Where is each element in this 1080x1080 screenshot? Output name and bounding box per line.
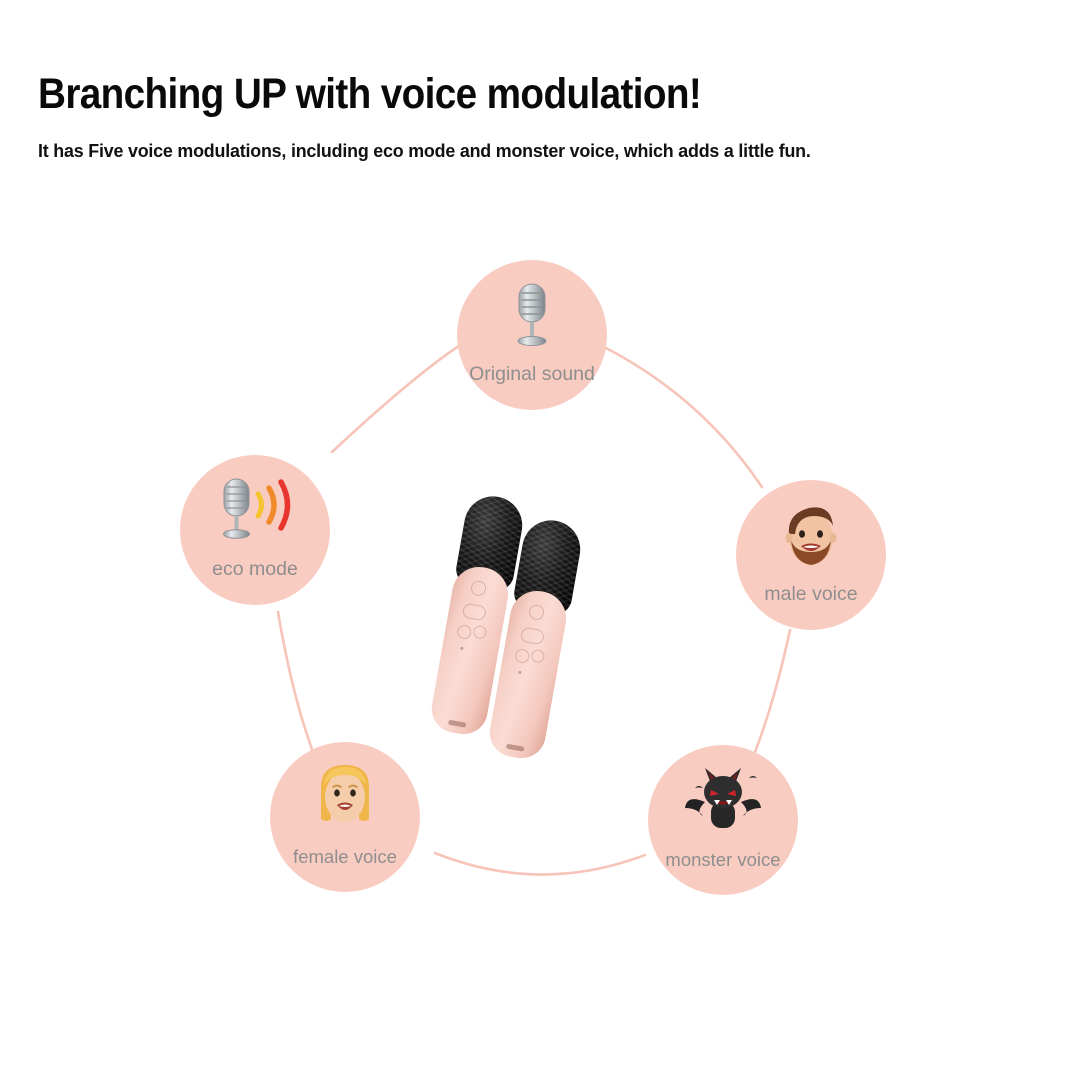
- karaoke-microphone-pair: [440, 470, 625, 720]
- mic-bottom-port: [506, 744, 525, 752]
- voice-modulation-infographic: Branching UP with voice modulation! It h…: [0, 0, 1080, 1080]
- node-original-sound[interactable]: Original sound: [457, 260, 607, 410]
- blonde-woman-icon: [270, 758, 420, 836]
- mic-button-mode: [462, 603, 487, 622]
- node-label: monster voice: [665, 851, 780, 896]
- bearded-man-icon: [736, 496, 886, 574]
- mic-button-volume: [456, 624, 472, 640]
- mic-button-effect: [472, 625, 487, 640]
- arc-monster-to-female: [435, 853, 645, 875]
- node-label: eco mode: [212, 560, 298, 606]
- mic-bottom-port: [448, 720, 467, 728]
- voice-modulation-diagram: Original sound male voice: [0, 0, 1080, 1080]
- mic-button-mode: [520, 627, 545, 646]
- arc-original-to-male: [600, 345, 762, 487]
- node-label: female voice: [293, 848, 397, 893]
- node-eco-mode[interactable]: eco mode: [180, 455, 330, 605]
- mic-button-effect: [530, 649, 545, 664]
- arc-male-to-monster: [755, 630, 790, 752]
- mic-button-volume: [514, 648, 530, 664]
- node-female-voice[interactable]: female voice: [270, 742, 420, 892]
- node-label: male voice: [764, 585, 857, 631]
- node-male-voice[interactable]: male voice: [736, 480, 886, 630]
- arc-female-to-eco: [278, 612, 313, 752]
- mic-button-power: [470, 580, 487, 597]
- mic-indicator-dot: [460, 647, 463, 650]
- node-monster-voice[interactable]: monster voice: [648, 745, 798, 895]
- bat-monster-icon: [648, 761, 798, 839]
- mic-button-power: [528, 604, 545, 621]
- studio-microphone-icon: [457, 276, 607, 354]
- arc-eco-to-original: [332, 340, 468, 452]
- microphone-soundwave-icon: [180, 471, 330, 549]
- mic-indicator-dot: [518, 671, 521, 674]
- node-label: Original sound: [469, 365, 595, 411]
